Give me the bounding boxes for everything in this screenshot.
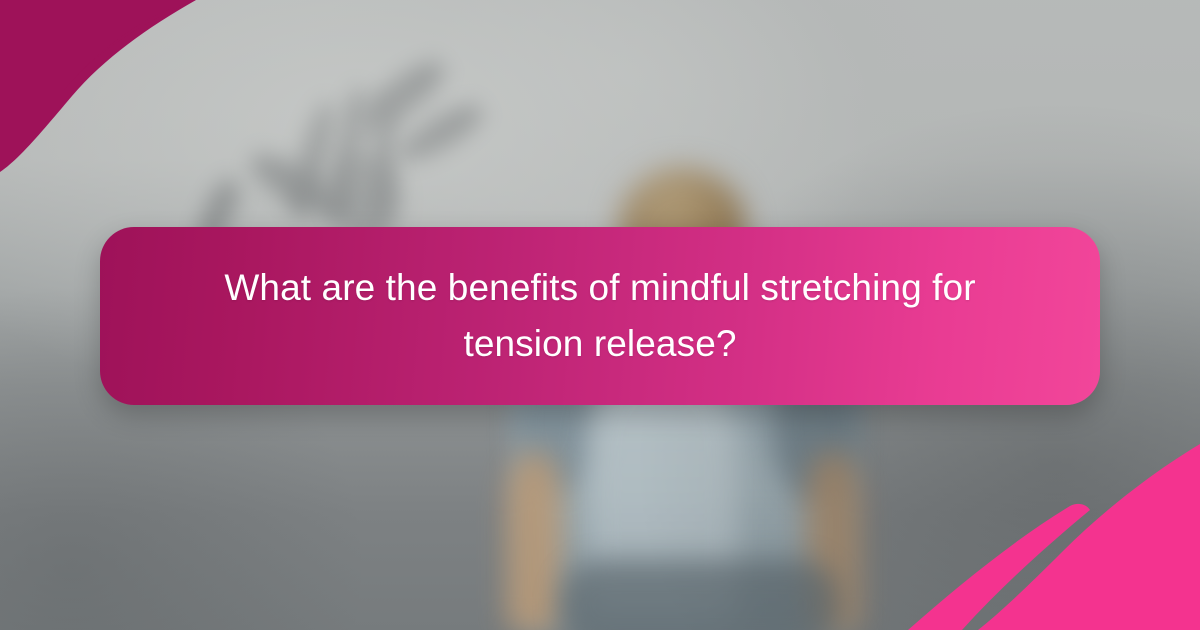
question-text: What are the benefits of mindful stretch… xyxy=(220,260,980,372)
question-banner: What are the benefits of mindful stretch… xyxy=(100,227,1100,405)
screenshot-canvas: What are the benefits of mindful stretch… xyxy=(0,0,1200,630)
